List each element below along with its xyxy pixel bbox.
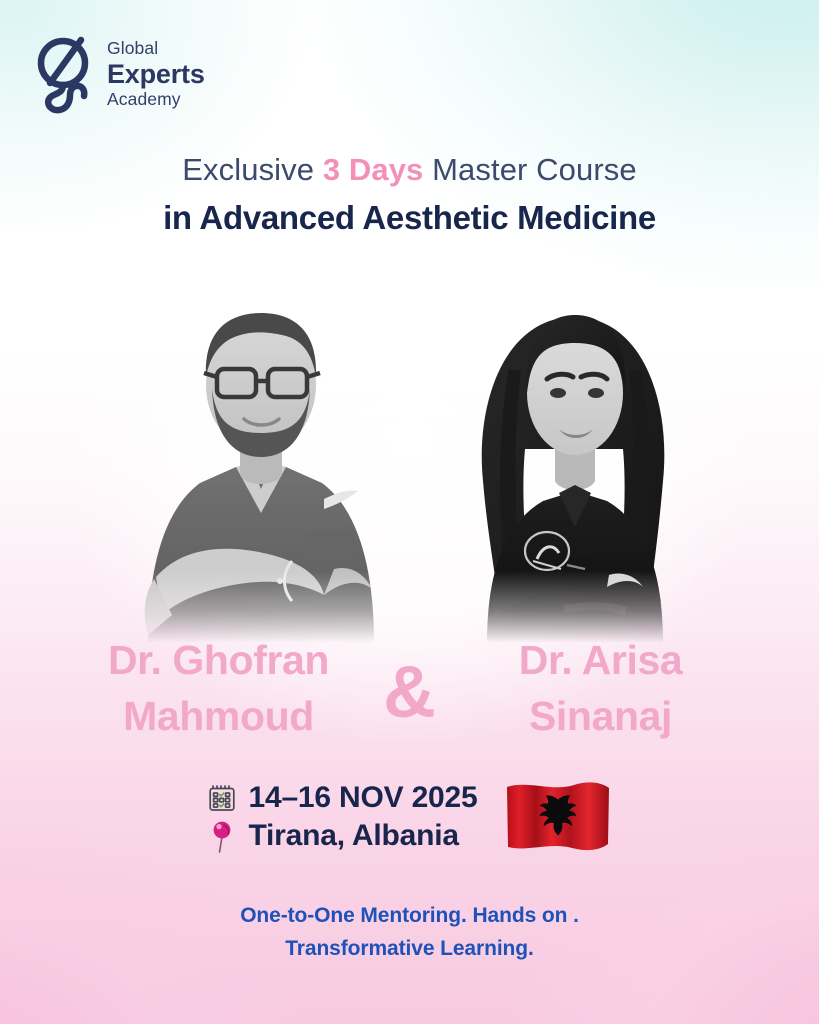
female-doctor-portrait-icon bbox=[409, 243, 739, 643]
male-doctor-portrait-icon bbox=[96, 243, 426, 643]
presenter-name-left-line1: Dr. Ghofran bbox=[69, 633, 369, 689]
calendar-icon bbox=[207, 781, 237, 815]
tagline-line2: Transformative Learning. bbox=[0, 933, 819, 966]
presenter-names: Dr. Ghofran Mahmoud & Dr. Arisa Sinanaj bbox=[0, 633, 819, 745]
brand-line-academy: Academy bbox=[107, 91, 205, 109]
event-date: 14–16 NOV 2025 bbox=[248, 781, 477, 815]
promo-poster: Global Experts Academy Exclusive 3 Days … bbox=[0, 0, 819, 1024]
event-location-row: Tirana, Albania bbox=[207, 819, 477, 853]
ampersand-separator: & bbox=[373, 656, 447, 729]
event-details: 14–16 NOV 2025 Tirana, Albania bbox=[0, 778, 819, 856]
headline-primary: Exclusive 3 Days Master Course bbox=[0, 152, 819, 188]
presenter-name-right-line2: Sinanaj bbox=[451, 689, 751, 745]
headline-suffix: Master Course bbox=[423, 152, 636, 187]
presenter-name-left: Dr. Ghofran Mahmoud bbox=[69, 633, 369, 745]
event-location: Tirana, Albania bbox=[248, 819, 458, 853]
brand-logo: Global Experts Academy bbox=[36, 33, 205, 115]
brand-logotype: Global Experts Academy bbox=[107, 40, 205, 109]
circle-slash-loop-icon bbox=[36, 33, 94, 115]
headline-block: Exclusive 3 Days Master Course in Advanc… bbox=[0, 152, 819, 237]
headline-subhead: in Advanced Aesthetic Medicine bbox=[0, 199, 819, 237]
presenter-photo-right bbox=[409, 243, 739, 643]
albania-flag-icon bbox=[504, 778, 612, 856]
event-details-rows: 14–16 NOV 2025 Tirana, Albania bbox=[207, 781, 477, 853]
presenter-photos bbox=[0, 243, 819, 643]
presenter-name-right-line1: Dr. Arisa bbox=[451, 633, 751, 689]
headline-highlight: 3 Days bbox=[323, 152, 424, 187]
presenter-name-right: Dr. Arisa Sinanaj bbox=[451, 633, 751, 745]
event-date-row: 14–16 NOV 2025 bbox=[207, 781, 477, 815]
presenter-name-left-line2: Mahmoud bbox=[69, 689, 369, 745]
brand-line-global: Global bbox=[107, 40, 205, 58]
map-pin-icon bbox=[207, 819, 237, 853]
presenter-photo-left bbox=[96, 243, 426, 643]
headline-prefix: Exclusive bbox=[182, 152, 323, 187]
tagline: One-to-One Mentoring. Hands on . Transfo… bbox=[0, 900, 819, 965]
brand-line-experts: Experts bbox=[107, 61, 205, 88]
tagline-line1: One-to-One Mentoring. Hands on . bbox=[0, 900, 819, 933]
